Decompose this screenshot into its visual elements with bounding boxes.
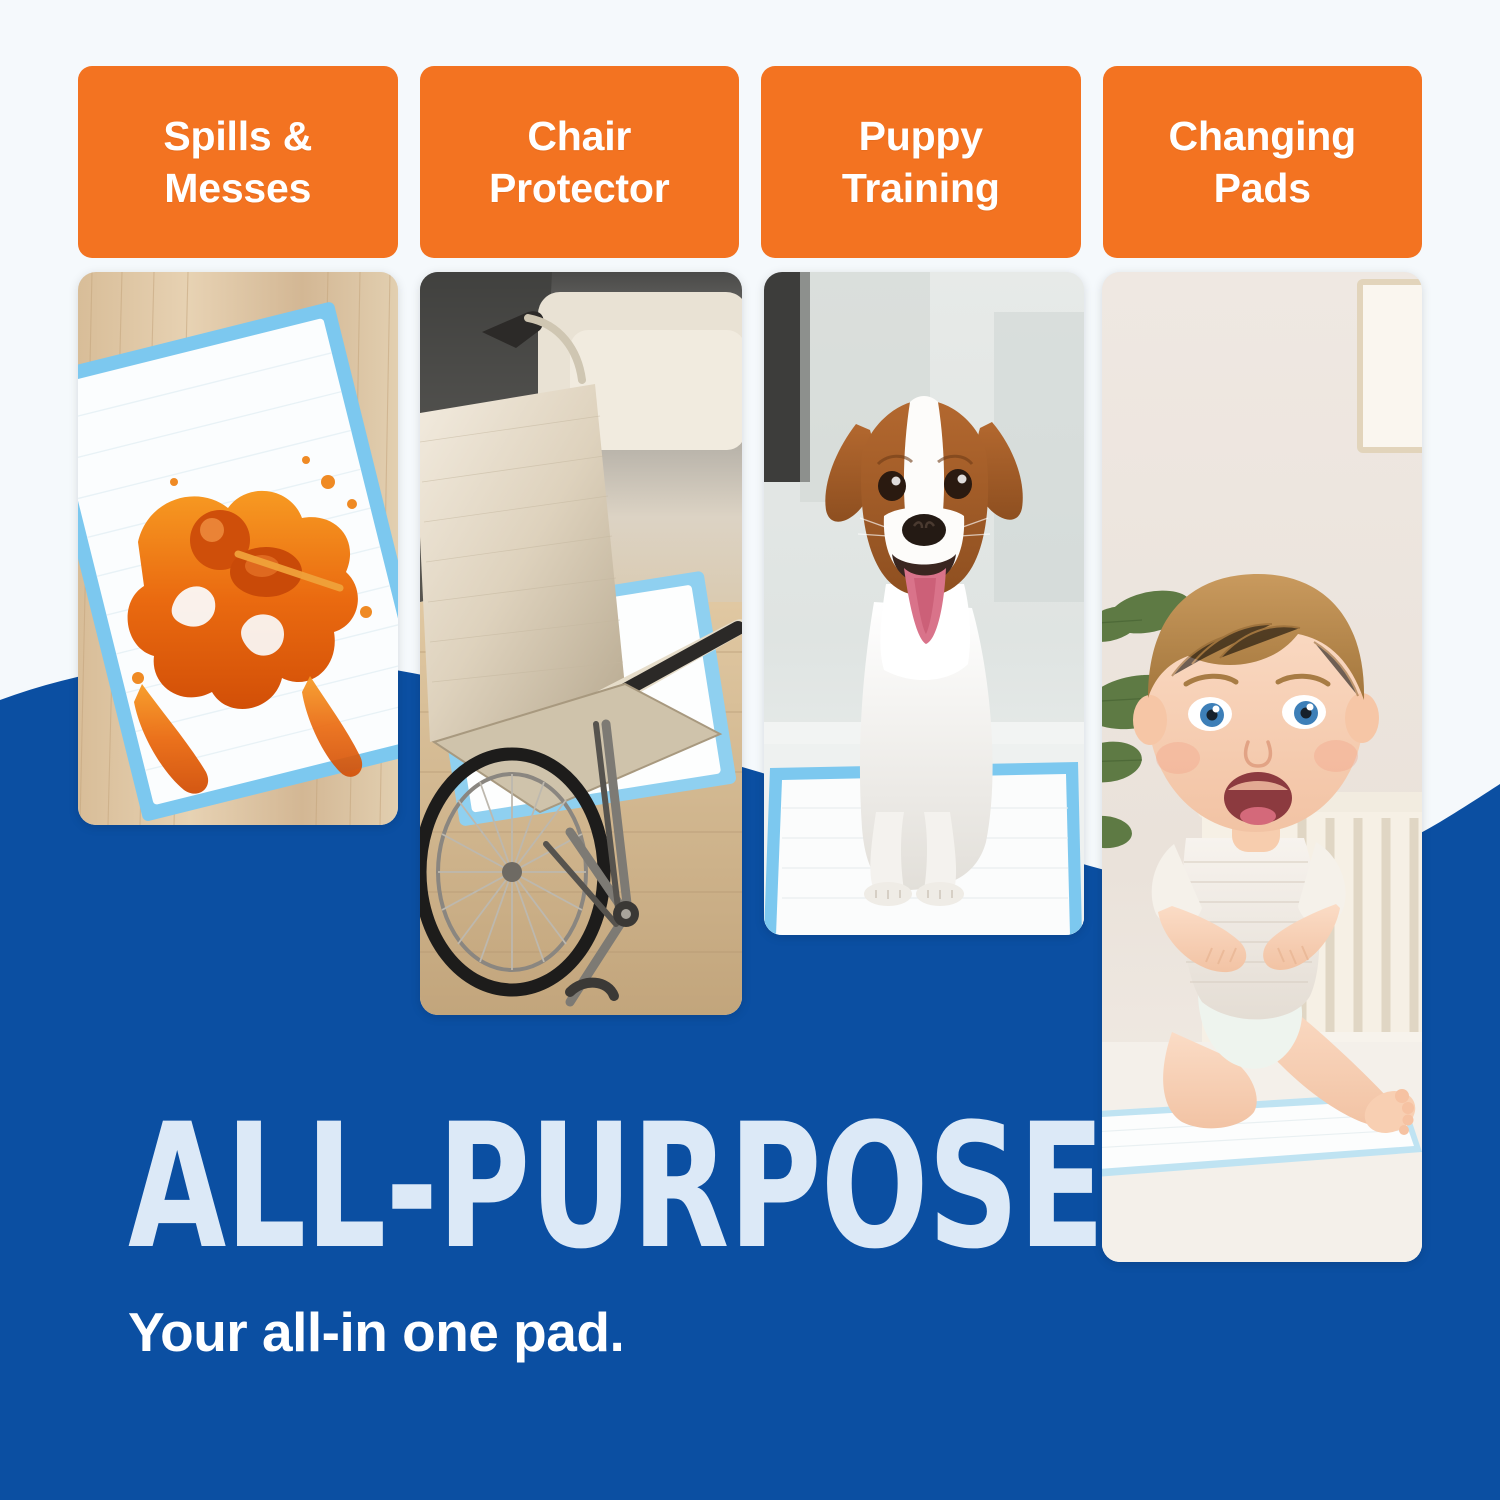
badge-spills-messes[interactable]: Spills &Messes bbox=[78, 66, 398, 258]
use-case-badge-row: Spills &Messes ChairProtector PuppyTrain… bbox=[78, 66, 1422, 258]
page-subtitle: Your all-in one pad. bbox=[128, 1300, 1028, 1364]
photo-wheelchair bbox=[420, 272, 742, 1015]
photo-baby bbox=[1102, 272, 1422, 1262]
photo-card-chair-protector[interactable] bbox=[420, 272, 742, 1015]
badge-changing-pads[interactable]: ChangingPads bbox=[1103, 66, 1423, 258]
photo-card-puppy-training[interactable] bbox=[764, 272, 1084, 935]
photo-puppy bbox=[764, 272, 1084, 935]
photo-spill-pad bbox=[78, 272, 398, 825]
photo-card-spills-messes[interactable] bbox=[78, 272, 398, 825]
hero-text-block: ALL-PURPOSE Your all-in one pad. bbox=[128, 1108, 1028, 1364]
badge-label: Spills &Messes bbox=[163, 110, 312, 215]
badge-label: ChairProtector bbox=[489, 110, 669, 215]
badge-label: PuppyTraining bbox=[842, 110, 1000, 215]
badge-puppy-training[interactable]: PuppyTraining bbox=[761, 66, 1081, 258]
photo-card-changing-pads[interactable] bbox=[1102, 272, 1422, 1262]
badge-label: ChangingPads bbox=[1169, 110, 1356, 215]
badge-chair-protector[interactable]: ChairProtector bbox=[420, 66, 740, 258]
page-title: ALL-PURPOSE bbox=[128, 1108, 866, 1266]
